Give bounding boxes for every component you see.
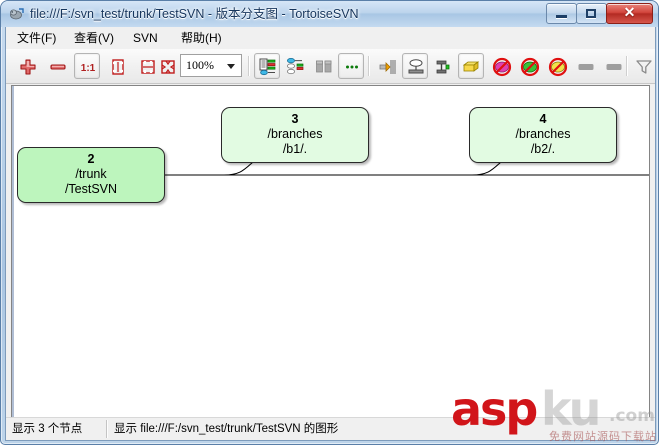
maximize-button[interactable] <box>576 3 607 24</box>
group-branches-button[interactable] <box>402 53 428 79</box>
status-graph-path: 显示 file:///F:/svn_test/trunk/TestSVN 的图形 <box>114 421 338 437</box>
tags-list-icon <box>434 57 454 77</box>
disabled-button-2[interactable] <box>600 53 626 79</box>
window-title: file:///F:/svn_test/trunk/TestSVN - 版本分支… <box>30 5 359 23</box>
status-separator <box>106 420 107 438</box>
revision-node-4[interactable]: 4 /branches /b2/. <box>469 107 617 163</box>
hide-deleted-button[interactable] <box>488 53 514 79</box>
filter-button[interactable] <box>630 53 656 79</box>
group-by-branch-button[interactable] <box>282 53 308 79</box>
title-bar[interactable]: file:///F:/svn_test/trunk/TestSVN - 版本分支… <box>1 1 658 27</box>
svg-text:1:1: 1:1 <box>81 63 96 74</box>
revision-node-2-path1: /trunk <box>18 167 164 182</box>
status-bar: 显示 3 个节点 显示 file:///F:/svn_test/trunk/Te… <box>6 417 655 440</box>
grey-box-icon <box>604 57 624 77</box>
revision-node-2[interactable]: 2 /trunk /TestSVN <box>17 147 165 203</box>
no-green-icon <box>520 57 540 77</box>
fit-height-icon <box>108 57 128 77</box>
fit-height-button[interactable] <box>104 53 130 79</box>
menu-svn[interactable]: SVN <box>128 29 163 47</box>
revision-node-4-path1: /branches <box>470 127 616 142</box>
zoom-in-button[interactable] <box>14 53 40 79</box>
align-trees-icon <box>378 57 398 77</box>
align-right-button[interactable] <box>430 53 456 79</box>
yellow-tags-icon <box>462 57 482 77</box>
zoom-level-value: 100% <box>186 58 214 73</box>
revision-node-3-path1: /branches <box>222 127 368 142</box>
no-magenta-icon <box>492 57 512 77</box>
two-boxes-icon <box>314 57 334 77</box>
one-to-one-icon: 1:1 <box>78 57 98 77</box>
menu-help[interactable]: 帮助(H) <box>176 29 227 47</box>
revision-node-3-path2: /b1/. <box>222 142 368 157</box>
zoom-out-button[interactable] <box>44 53 70 79</box>
disabled-button-1[interactable] <box>572 53 598 79</box>
tortoisesvn-window: file:///F:/svn_test/trunk/TestSVN - 版本分支… <box>0 0 659 445</box>
zoom-level-combobox[interactable]: 100% <box>180 54 242 77</box>
tortoisesvn-revgraph-icon <box>9 6 25 22</box>
fit-window-icon <box>158 57 178 77</box>
no-yellow-icon <box>548 57 568 77</box>
hide-tags-button[interactable] <box>544 53 570 79</box>
minus-icon <box>48 57 68 77</box>
minimize-button[interactable] <box>546 3 577 24</box>
show-all-revisions-button[interactable] <box>254 53 280 79</box>
zoom-100-button[interactable]: 1:1 <box>74 53 100 79</box>
funnel-icon <box>634 57 654 77</box>
status-node-count: 显示 3 个节点 <box>12 421 82 437</box>
show-tags-button[interactable] <box>458 53 484 79</box>
revision-graph-canvas[interactable]: 2 /trunk /TestSVN 3 /branches /b1/. 4 /b… <box>11 85 650 430</box>
revision-node-2-revision: 2 <box>18 152 164 167</box>
close-icon: ✕ <box>607 4 652 23</box>
revision-node-3[interactable]: 3 /branches /b1/. <box>221 107 369 163</box>
branches-list-icon <box>406 57 426 77</box>
toolbar-separator <box>248 56 249 76</box>
chevron-down-icon <box>227 64 235 69</box>
maximize-icon <box>577 4 606 23</box>
toolbar-separator <box>368 56 369 76</box>
filter-levels-icon <box>258 57 278 77</box>
menu-file[interactable]: 文件(F) <box>12 29 61 47</box>
compare-revisions-button[interactable] <box>310 53 336 79</box>
plus-icon <box>18 57 38 77</box>
align-left-button[interactable] <box>374 53 400 79</box>
menu-bar: 文件(F) 查看(V) SVN 帮助(H) <box>6 27 655 50</box>
ellipsis-icon <box>342 57 362 77</box>
fit-window-button[interactable] <box>154 53 180 79</box>
toolbar-separator <box>626 56 627 76</box>
more-options-button[interactable] <box>338 53 364 79</box>
grey-box-icon <box>576 57 596 77</box>
revision-node-3-revision: 3 <box>222 112 368 127</box>
revision-node-4-revision: 4 <box>470 112 616 127</box>
revision-node-4-path2: /b2/. <box>470 142 616 157</box>
revision-node-2-path2: /TestSVN <box>18 182 164 197</box>
toolbar: 1:1 <box>6 49 655 84</box>
menu-view[interactable]: 查看(V) <box>69 29 119 47</box>
client-area: 文件(F) 查看(V) SVN 帮助(H) <box>5 27 656 441</box>
minimize-icon <box>547 4 576 23</box>
tree-group-icon <box>286 57 306 77</box>
close-button[interactable]: ✕ <box>606 3 653 24</box>
hide-unchanged-button[interactable] <box>516 53 542 79</box>
